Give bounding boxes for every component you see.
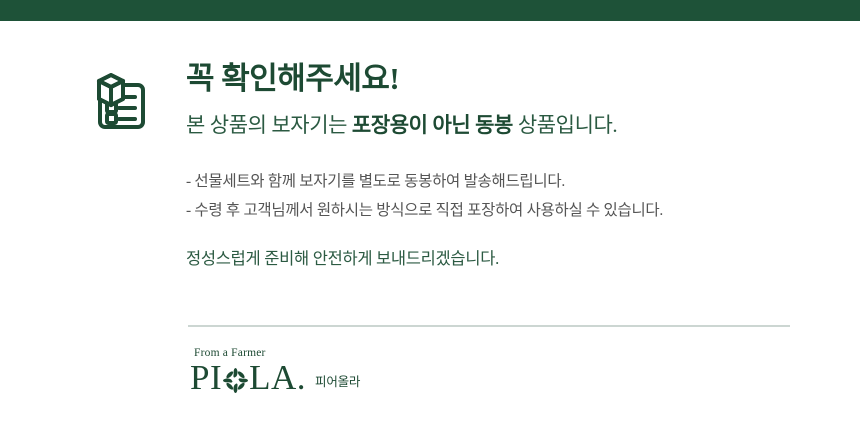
brand-logo: From a Farmer PI bbox=[190, 347, 490, 403]
logo-wordmark: PI bbox=[190, 360, 490, 395]
subhead-emphasis: 포장용이 아닌 동봉 bbox=[352, 113, 513, 137]
notice-closing-line: 정성스럽게 준비해 안전하게 보내드리겠습니다. bbox=[186, 245, 826, 269]
notice-panel: 꼭 확인해주세요! 본 상품의 보자기는 포장용이 아닌 동봉 상품입니다. -… bbox=[0, 21, 860, 424]
top-accent-bar bbox=[0, 0, 860, 21]
logo-tagline: From a Farmer bbox=[194, 347, 490, 359]
list-item: - 수령 후 고객님께서 원하시는 방식으로 직접 포장하여 사용하실 수 있습… bbox=[186, 197, 826, 226]
notice-bullet-list: - 선물세트와 함께 보자기를 별도로 동봉하여 발송해드립니다. - 수령 후… bbox=[186, 168, 826, 225]
logo-word-right: LA. bbox=[249, 360, 306, 395]
package-checklist-icon bbox=[78, 65, 152, 139]
notice-text-block: 꼭 확인해주세요! 본 상품의 보자기는 포장용이 아닌 동봉 상품입니다. -… bbox=[186, 61, 826, 269]
notice-subheadline: 본 상품의 보자기는 포장용이 아닌 동봉 상품입니다. bbox=[186, 112, 826, 138]
list-item: - 선물세트와 함께 보자기를 별도로 동봉하여 발송해드립니다. bbox=[186, 168, 826, 197]
flower-rosette-icon bbox=[223, 368, 248, 393]
logo-korean-name: 피어올라 bbox=[315, 371, 360, 390]
section-divider bbox=[188, 325, 790, 327]
subhead-suffix: 상품입니다. bbox=[513, 113, 617, 137]
logo-word-left: PI bbox=[190, 360, 222, 395]
subhead-prefix: 본 상품의 보자기는 bbox=[186, 113, 352, 137]
notice-headline: 꼭 확인해주세요! bbox=[186, 61, 826, 98]
